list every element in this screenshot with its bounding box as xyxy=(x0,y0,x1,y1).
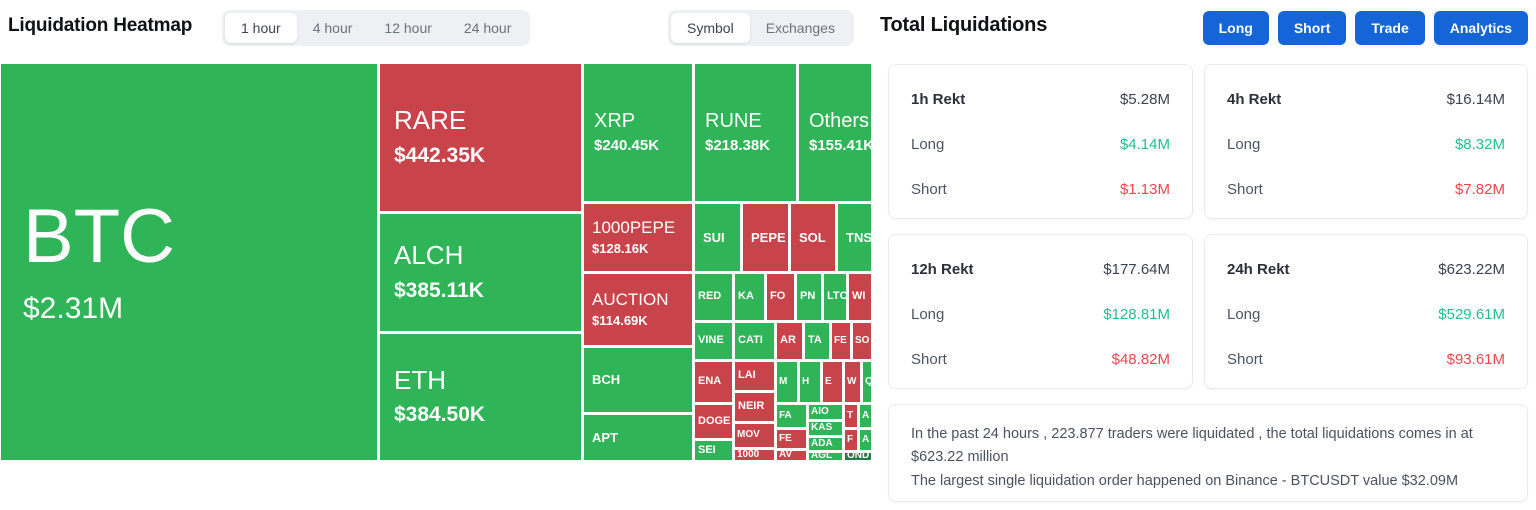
tile-symbol: CATI xyxy=(738,335,774,347)
tile-symbol: LAI xyxy=(738,370,774,382)
treemap-tile-eth[interactable]: ETH$384.50K xyxy=(379,333,582,461)
page-title: Liquidation Heatmap xyxy=(8,15,192,37)
tile-symbol: FE xyxy=(779,434,806,445)
treemap-tile-alch[interactable]: ALCH$385.11K xyxy=(379,213,582,332)
rekt-label: 12h Rekt xyxy=(911,261,974,278)
trade-button[interactable]: Trade xyxy=(1355,11,1424,45)
treemap-tile-auction[interactable]: AUCTION$114.69K xyxy=(583,273,693,346)
rekt-row-period: 12h Rekt$177.64M xyxy=(889,261,1192,278)
rekt-card-4h: 4h Rekt$16.14MLong$8.32MShort$7.82M xyxy=(1204,64,1528,219)
tile-value: $240.45K xyxy=(594,137,692,155)
rekt-row-long: Long$529.61M xyxy=(1205,306,1527,323)
tile-symbol: Q xyxy=(865,377,871,388)
rekt-value: $7.82M xyxy=(1455,181,1505,198)
treemap-tile-apt[interactable]: APT$85.20K xyxy=(583,414,693,461)
total-liquidations-title: Total Liquidations xyxy=(880,14,1047,37)
toolbar: Liquidation Heatmap 1 hour4 hour12 hour2… xyxy=(0,0,1536,56)
tile-value: $114.69K xyxy=(592,313,692,329)
rekt-row-period: 24h Rekt$623.22M xyxy=(1205,261,1527,278)
tile-symbol: ETH xyxy=(394,367,581,394)
tab-1-hour[interactable]: 1 hour xyxy=(225,13,297,43)
grouping-tabs[interactable]: SymbolExchanges xyxy=(668,10,854,46)
tile-symbol: E xyxy=(825,377,842,388)
treemap-tile-red[interactable]: RED xyxy=(694,273,733,321)
tile-symbol: VINE xyxy=(698,335,732,347)
tile-symbol: A xyxy=(862,411,871,422)
rekt-value: $177.64M xyxy=(1103,261,1170,278)
tile-symbol: ALCH xyxy=(394,242,581,269)
rekt-label: Short xyxy=(1227,351,1263,368)
tile-value: $2.31M xyxy=(23,291,377,327)
rekt-label: Short xyxy=(911,181,947,198)
treemap-tile-kas[interactable]: KAS xyxy=(808,421,843,436)
tile-symbol: TNS xyxy=(846,231,871,245)
tile-symbol: A xyxy=(862,435,871,446)
tile-symbol: FE xyxy=(834,336,850,347)
short-button[interactable]: Short xyxy=(1278,11,1347,45)
treemap-tile-ka[interactable]: KA xyxy=(734,273,765,321)
treemap-tile-av[interactable]: AV xyxy=(776,450,807,461)
treemap-tile-ena[interactable]: ENA xyxy=(694,361,733,403)
treemap-tile-neir[interactable]: NEIR xyxy=(734,392,775,422)
treemap-tile-cati[interactable]: CATI xyxy=(734,322,775,360)
treemap-tile-vine[interactable]: VINE xyxy=(694,322,733,360)
tab-4-hour[interactable]: 4 hour xyxy=(297,13,369,43)
treemap-tile-ada[interactable]: ADA xyxy=(808,437,843,451)
treemap-tile-a[interactable]: A xyxy=(859,429,872,451)
rekt-label: 1h Rekt xyxy=(911,91,965,108)
rekt-label: Long xyxy=(911,306,944,323)
rekt-value: $623.22M xyxy=(1438,261,1505,278)
rekt-card-12h: 12h Rekt$177.64MLong$128.81MShort$48.82M xyxy=(888,234,1193,389)
tile-symbol: APT xyxy=(592,431,692,445)
treemap-tile-bch[interactable]: BCH$96.80K xyxy=(583,347,693,413)
rekt-row-period: 4h Rekt$16.14M xyxy=(1205,91,1527,108)
treemap-tile-lai[interactable]: LAI xyxy=(734,361,775,391)
rekt-row-short: Short$48.82M xyxy=(889,351,1192,368)
rekt-row-long: Long$128.81M xyxy=(889,306,1192,323)
treemap-tile-a[interactable]: A xyxy=(859,404,872,428)
treemap-tile-ond[interactable]: OND xyxy=(844,452,872,461)
rekt-value: $16.14M xyxy=(1447,91,1505,108)
tile-symbol: RARE xyxy=(394,107,581,134)
treemap-tile-tns[interactable]: TNS xyxy=(837,203,872,272)
tile-symbol: LTC xyxy=(827,291,846,303)
treemap-tile-mov[interactable]: MOV xyxy=(734,423,775,448)
tile-symbol: AUCTION xyxy=(592,291,692,309)
rekt-value: $8.32M xyxy=(1455,136,1505,153)
rekt-row-long: Long$4.14M xyxy=(889,136,1192,153)
treemap-tile-doge[interactable]: DOGE xyxy=(694,404,733,439)
treemap-tile-ta[interactable]: TA xyxy=(804,322,830,360)
tile-symbol: SUI xyxy=(703,231,740,245)
summary-line-1: In the past 24 hours , 223.877 traders w… xyxy=(911,423,1505,470)
tile-symbol: DOGE xyxy=(698,416,732,428)
tile-symbol: WI xyxy=(852,291,871,303)
rekt-label: Short xyxy=(1227,181,1263,198)
tile-symbol: OND xyxy=(847,452,871,461)
tile-symbol: AGL xyxy=(811,452,842,461)
treemap-tile-w[interactable]: W xyxy=(844,361,861,403)
tab-exchanges[interactable]: Exchanges xyxy=(750,13,851,43)
rekt-value: $529.61M xyxy=(1438,306,1505,323)
rekt-row-short: Short$7.82M xyxy=(1205,181,1527,198)
tile-symbol: AIO xyxy=(811,407,842,418)
treemap-tile-fe[interactable]: FE xyxy=(776,429,807,449)
rekt-label: Long xyxy=(1227,306,1260,323)
tile-value: $442.35K xyxy=(394,143,581,168)
tile-symbol: F xyxy=(847,435,857,446)
tile-symbol: AR xyxy=(780,335,802,347)
treemap-tile-1000pepe[interactable]: 1000PEPE$128.16K xyxy=(583,203,693,272)
treemap-tile-agl[interactable]: AGL xyxy=(808,452,843,461)
tile-symbol: MOV xyxy=(737,430,774,441)
tile-symbol: FO xyxy=(770,291,794,303)
rekt-value: $1.13M xyxy=(1120,181,1170,198)
tab-symbol[interactable]: Symbol xyxy=(671,13,750,43)
summary-note: In the past 24 hours , 223.877 traders w… xyxy=(888,404,1528,502)
treemap-tile-sui[interactable]: SUI xyxy=(694,203,741,272)
treemap-tile-fa[interactable]: FA xyxy=(776,404,807,428)
tile-symbol: M xyxy=(779,377,797,388)
treemap-tile-h[interactable]: H xyxy=(799,361,821,403)
rekt-value: $128.81M xyxy=(1103,306,1170,323)
treemap-tile-wi[interactable]: WI xyxy=(848,273,872,321)
rekt-row-long: Long$8.32M xyxy=(1205,136,1527,153)
tile-symbol: TA xyxy=(808,335,829,347)
treemap-tile-1000[interactable]: 1000 xyxy=(734,449,775,461)
tile-symbol: BCH xyxy=(592,373,692,387)
timeframe-tabs[interactable]: 1 hour4 hour12 hour24 hour xyxy=(222,10,530,46)
rekt-value: $4.14M xyxy=(1120,136,1170,153)
tile-symbol: BTC xyxy=(23,197,377,277)
rekt-value: $5.28M xyxy=(1120,91,1170,108)
tile-symbol: W xyxy=(847,377,860,388)
rekt-value: $48.82M xyxy=(1112,351,1170,368)
tile-symbol: Others xyxy=(809,111,871,132)
tile-symbol: XRP xyxy=(594,111,692,132)
tile-symbol: PEPE xyxy=(751,231,788,245)
treemap-tile-q[interactable]: Q xyxy=(862,361,872,403)
tile-value: $155.41K xyxy=(809,137,871,155)
rekt-card-1h: 1h Rekt$5.28MLong$4.14MShort$1.13M xyxy=(888,64,1193,219)
tile-value: $128.16K xyxy=(592,241,692,257)
tile-symbol: KA xyxy=(738,291,764,303)
tile-symbol: RUNE xyxy=(705,111,796,132)
rekt-row-period: 1h Rekt$5.28M xyxy=(889,91,1192,108)
treemap-tile-t[interactable]: T xyxy=(844,404,858,428)
tile-value: $385.11K xyxy=(394,278,581,303)
treemap-tile-xrp[interactable]: XRP$240.45K xyxy=(583,63,693,202)
rekt-label: Short xyxy=(911,351,947,368)
treemap-tile-pepe[interactable]: PEPE xyxy=(742,203,789,272)
rekt-value: $93.61M xyxy=(1447,351,1505,368)
tile-symbol: 1000PEPE xyxy=(592,219,692,237)
treemap-tile-fo[interactable]: FO xyxy=(766,273,795,321)
liquidation-dashboard: Liquidation Heatmap 1 hour4 hour12 hour2… xyxy=(0,0,1536,510)
tile-symbol: NEIR xyxy=(738,401,774,413)
action-buttons: LongShortTradeAnalytics xyxy=(1203,11,1528,45)
treemap-tile-rune[interactable]: RUNE$218.38K xyxy=(694,63,797,202)
tile-symbol: ADA xyxy=(811,439,842,450)
rekt-card-24h: 24h Rekt$623.22MLong$529.61MShort$93.61M xyxy=(1204,234,1528,389)
treemap-tile-e[interactable]: E xyxy=(822,361,843,403)
treemap-tile-ar[interactable]: AR xyxy=(776,322,803,360)
rekt-label: Long xyxy=(1227,136,1260,153)
tab-12-hour[interactable]: 12 hour xyxy=(368,13,447,43)
liquidation-treemap[interactable]: BTC$2.31MRARE$442.35KALCH$385.11KETH$384… xyxy=(0,61,872,461)
long-button[interactable]: Long xyxy=(1203,11,1269,45)
treemap-tile-fe[interactable]: FE xyxy=(831,322,851,360)
tile-symbol: FA xyxy=(779,411,806,422)
treemap-tile-rare[interactable]: RARE$442.35K xyxy=(379,63,582,212)
tab-24-hour[interactable]: 24 hour xyxy=(448,13,527,43)
rekt-label: 4h Rekt xyxy=(1227,91,1281,108)
tile-symbol: RED xyxy=(698,291,732,303)
tile-symbol: SEI xyxy=(698,445,732,457)
treemap-tile-m[interactable]: M xyxy=(776,361,798,403)
treemap-tile-ltc[interactable]: LTC xyxy=(823,273,847,321)
tile-symbol: ENA xyxy=(698,376,732,388)
rekt-row-short: Short$93.61M xyxy=(1205,351,1527,368)
tile-value: $218.38K xyxy=(705,137,796,155)
summary-line-2: The largest single liquidation order hap… xyxy=(911,470,1505,493)
rekt-row-short: Short$1.13M xyxy=(889,181,1192,198)
tile-value: $384.50K xyxy=(394,402,581,427)
tile-symbol: SOL xyxy=(799,231,835,245)
treemap-tile-aio[interactable]: AIO xyxy=(808,404,843,420)
treemap-tile-f[interactable]: F xyxy=(844,429,858,451)
tile-symbol: 1000 xyxy=(737,450,774,461)
tile-symbol: KAS xyxy=(811,423,842,434)
tile-symbol: PN xyxy=(800,291,821,303)
tile-symbol: H xyxy=(802,377,820,388)
tile-symbol: SO xyxy=(855,336,871,347)
treemap-tile-pn[interactable]: PN xyxy=(796,273,822,321)
tile-symbol: AV xyxy=(779,450,806,461)
analytics-button[interactable]: Analytics xyxy=(1434,11,1528,45)
treemap-tile-btc[interactable]: BTC$2.31M xyxy=(0,63,378,461)
tile-symbol: T xyxy=(847,411,857,422)
rekt-label: Long xyxy=(911,136,944,153)
treemap-tile-sei[interactable]: SEI xyxy=(694,440,733,461)
rekt-label: 24h Rekt xyxy=(1227,261,1290,278)
treemap-tile-others[interactable]: Others$155.41K xyxy=(798,63,872,202)
treemap-tile-sol[interactable]: SOL xyxy=(790,203,836,272)
treemap-tile-so[interactable]: SO xyxy=(852,322,872,360)
